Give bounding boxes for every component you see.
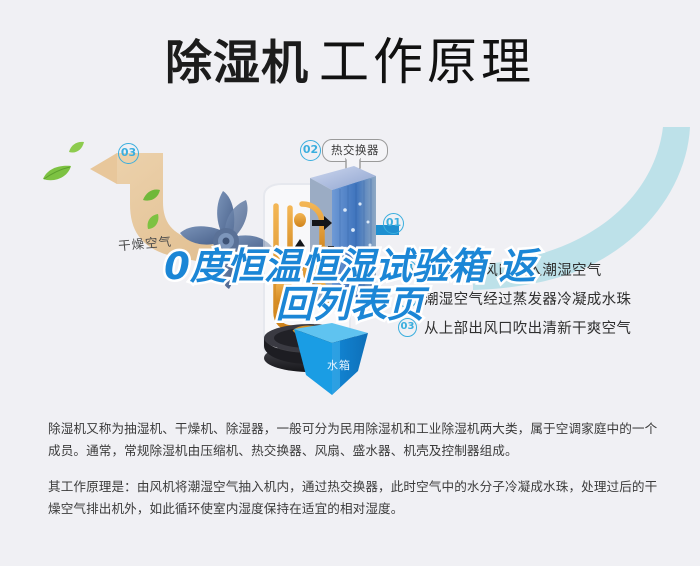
- legend-badge-01: 01: [398, 260, 417, 279]
- legend-text-02: 潮湿空气经过蒸发器冷凝成水珠: [424, 288, 631, 309]
- badge-02-diagram: 02: [300, 140, 321, 161]
- legend-item-03: 03 从上部出风口吹出清新干爽空气: [398, 313, 698, 342]
- page-title-part2: 工作原理: [319, 33, 535, 91]
- legend-item-02: 02 潮湿空气经过蒸发器冷凝成水珠: [398, 284, 698, 313]
- badge-03-diagram: 03: [118, 143, 139, 164]
- body-paragraph-1: 除湿机又称为抽湿机、干燥机、除湿器，一般可分为民用除湿机和工业除湿机两大类，属于…: [48, 418, 658, 461]
- leaf-icon: [42, 165, 72, 183]
- body-paragraph-2: 其工作原理是：由风机将潮湿空气抽入机内，通过热交换器，此时空气中的水分子冷凝成水…: [48, 476, 658, 519]
- body-copy: 除湿机又称为抽湿机、干燥机、除湿器，一般可分为民用除湿机和工业除湿机两大类，属于…: [48, 418, 658, 520]
- legend-text-01: 从底部进风口吸入潮湿空气: [424, 259, 602, 280]
- legend-list: 01 从底部进风口吸入潮湿空气 02 潮湿空气经过蒸发器冷凝成水珠 03 从上部…: [398, 255, 698, 342]
- leaf-icon: [142, 188, 161, 202]
- legend-item-01: 01 从底部进风口吸入潮湿空气: [398, 255, 698, 284]
- badge-01-diagram: 01: [383, 213, 404, 234]
- leaf-icon: [68, 141, 85, 154]
- page-title: 除湿机工作原理: [0, 22, 700, 94]
- legend-text-03: 从上部出风口吹出清新干爽空气: [424, 317, 631, 338]
- leaf-icon: [145, 213, 160, 230]
- water-tank-label: 水箱: [327, 357, 351, 373]
- legend-badge-02: 02: [398, 289, 417, 308]
- legend-badge-03: 03: [398, 318, 417, 337]
- page-title-part1: 除湿机: [165, 36, 309, 91]
